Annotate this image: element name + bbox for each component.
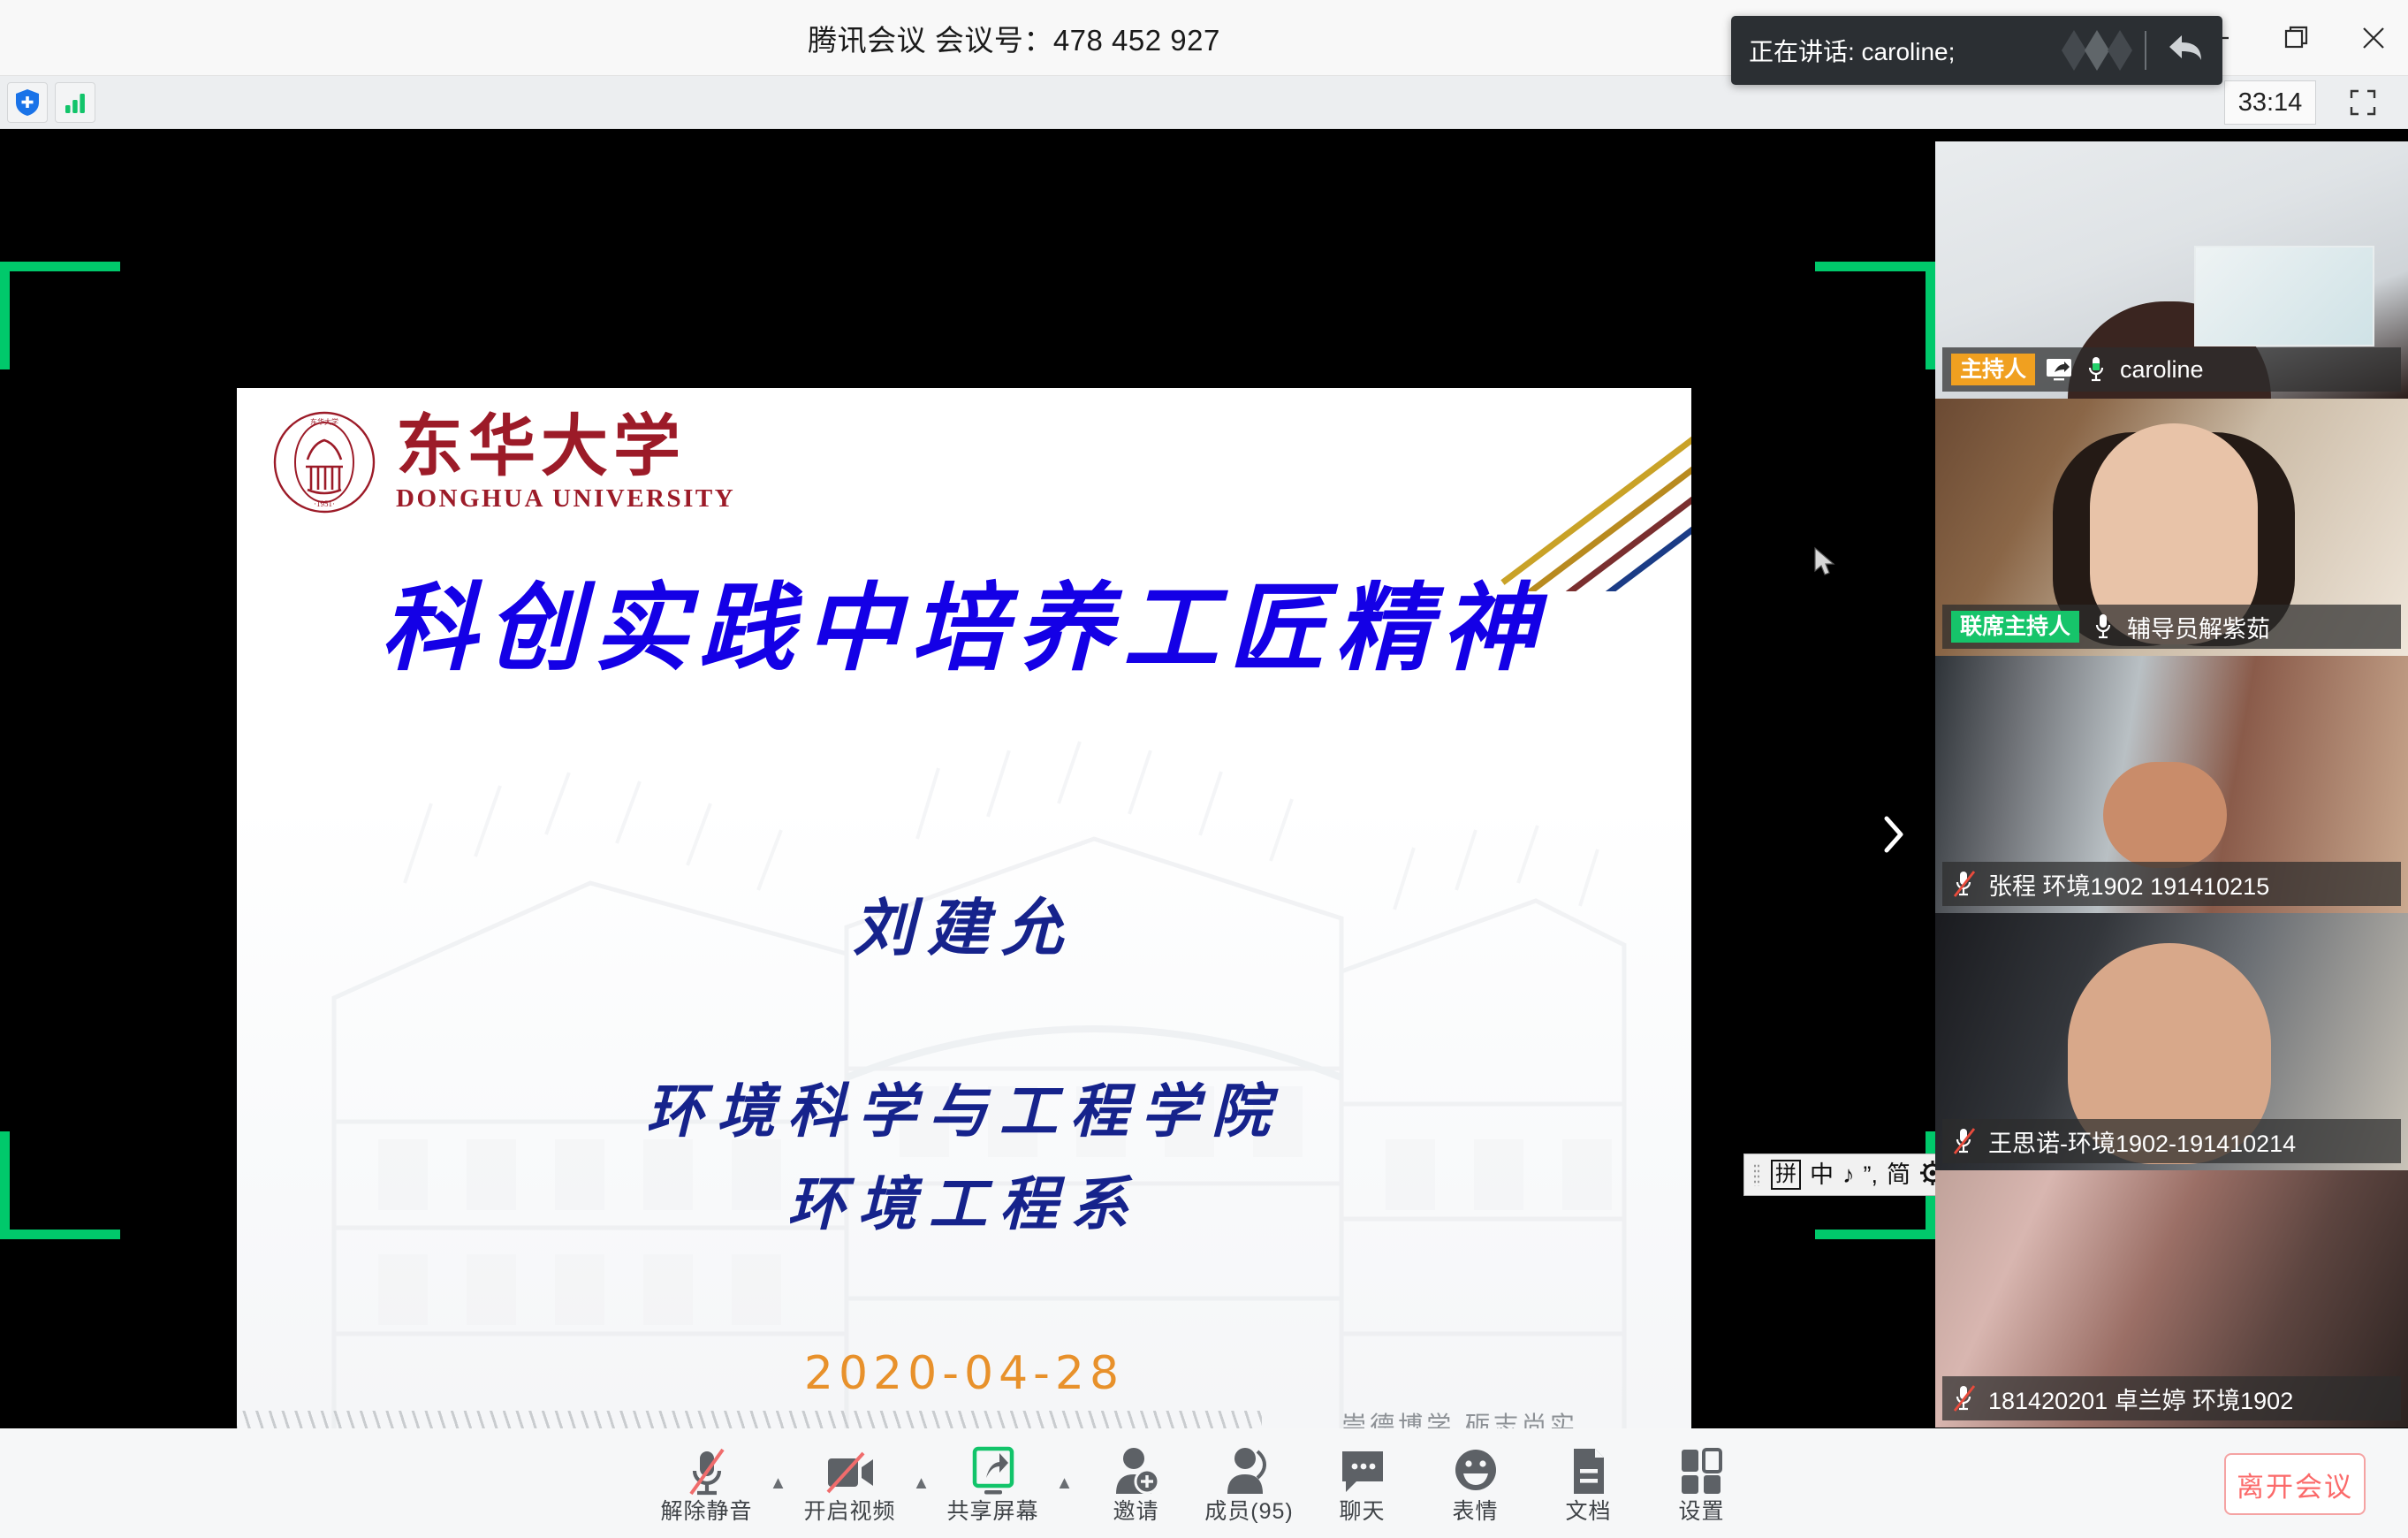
- slide-motto: 崇德博学 砺志尚实: [1341, 1406, 1578, 1428]
- ime-toolbar[interactable]: 拼 中 ♪ ”, 简 ▾: [1743, 1153, 1935, 1196]
- emoji-button[interactable]: 表情: [1419, 1432, 1532, 1534]
- chat-bubble-icon: [1339, 1444, 1386, 1497]
- share-screen-button[interactable]: 共享屏幕: [937, 1432, 1050, 1534]
- participant-name: caroline: [2120, 356, 2204, 384]
- university-name-cn: 东华大学: [396, 411, 735, 482]
- mic-muted-icon: [683, 1444, 731, 1497]
- mouse-pointer-icon: [1813, 546, 1836, 578]
- invite-button[interactable]: 邀请: [1080, 1432, 1193, 1534]
- meeting-toolbar-items: 解除静音 ▲ 开启视频 ▲: [0, 1428, 2408, 1538]
- share-marker-bottom-left: [0, 1131, 120, 1239]
- shared-screen-stage: ·1951· 东华大学 东华大学 DONGHUA UNIVERSITY 科创实践…: [0, 129, 1935, 1428]
- meeting-toolbar: 解除静音 ▲ 开启视频 ▲: [0, 1428, 2408, 1538]
- audio-options-caret-icon[interactable]: ▲: [763, 1432, 794, 1534]
- toolbar-label: 文档: [1565, 1501, 1611, 1523]
- participant-name: 181420201 卓兰婷 环境1902: [1988, 1382, 2293, 1416]
- slide-department-line1: 环境科学与工程学院: [237, 1064, 1691, 1149]
- svg-text:·1951·: ·1951·: [314, 499, 335, 508]
- screen-share-icon: [2046, 354, 2072, 384]
- security-shield-icon[interactable]: [7, 82, 48, 123]
- speaking-toast: 正在讲话: caroline;: [1731, 16, 2222, 85]
- toolbar-label: 开启视频: [803, 1501, 895, 1523]
- window-controls: [2199, 0, 2392, 76]
- participant-tile[interactable]: 张程 环境1902 191410215: [1935, 656, 2408, 913]
- user-add-icon: [1113, 1444, 1160, 1497]
- participants-button[interactable]: 成员(95): [1193, 1432, 1306, 1534]
- participants-icon: [1226, 1444, 1273, 1497]
- meeting-timer: 33:14: [2224, 80, 2316, 125]
- slide-title: 科创实践中培养工匠精神: [237, 552, 1691, 689]
- presentation-slide: ·1951· 东华大学 东华大学 DONGHUA UNIVERSITY 科创实践…: [237, 388, 1691, 1428]
- restore-icon[interactable]: [2277, 19, 2314, 57]
- screen-share-icon: [972, 1444, 1014, 1497]
- participant-tile[interactable]: 181420201 卓兰婷 环境1902: [1935, 1170, 2408, 1428]
- participant-namebar: 王思诺-环境1902-191410214: [1942, 1119, 2401, 1163]
- toolbar-label: 共享屏幕: [946, 1501, 1038, 1523]
- video-options-caret-icon[interactable]: ▲: [907, 1432, 937, 1534]
- share-options-caret-icon[interactable]: ▲: [1050, 1432, 1080, 1534]
- ime-language-toggle[interactable]: 中: [1810, 1163, 1834, 1187]
- slide-hatch-decoration: [237, 1411, 1262, 1428]
- mic-muted-icon: [1951, 1126, 1978, 1156]
- unmute-button[interactable]: 解除静音: [650, 1432, 763, 1534]
- participant-name: 王思诺-环境1902-191410214: [1988, 1124, 2296, 1159]
- participant-name: 辅导员解紫茹: [2127, 610, 2270, 644]
- slide-author: 刘建允: [237, 879, 1691, 968]
- leave-meeting-button[interactable]: 离开会议: [2224, 1453, 2366, 1515]
- signal-bars-icon[interactable]: [55, 82, 95, 123]
- participant-tile[interactable]: 王思诺-环境1902-191410214: [1935, 913, 2408, 1170]
- video-off-icon: [823, 1444, 877, 1497]
- participant-namebar: 张程 环境1902 191410215: [1942, 862, 2401, 906]
- share-marker-top-left: [0, 262, 120, 369]
- collapse-filmstrip-chevron-right-icon[interactable]: [1866, 801, 1919, 868]
- slide-date: 2020-04-28: [237, 1347, 1691, 1400]
- participant-namebar: 联席主持人 辅导员解紫茹: [1942, 605, 2401, 649]
- gear-icon[interactable]: [1919, 1160, 1935, 1191]
- mic-muted-icon: [1951, 869, 1978, 899]
- svg-text:东华大学: 东华大学: [310, 417, 338, 426]
- university-name-en: DONGHUA UNIVERSITY: [396, 484, 735, 514]
- tencent-meeting-logo-icon: [2060, 27, 2134, 74]
- cohost-badge: 联席主持人: [1951, 611, 2079, 643]
- start-video-button[interactable]: 开启视频: [794, 1432, 907, 1534]
- ime-charset-toggle[interactable]: 简: [1887, 1163, 1910, 1187]
- ime-punctuation-toggle[interactable]: ”,: [1864, 1163, 1879, 1187]
- document-icon: [1569, 1444, 1609, 1497]
- toolbar-label: 解除静音: [660, 1501, 752, 1523]
- participant-filmstrip[interactable]: 主持人 caro: [1935, 141, 2408, 1428]
- mic-icon: [2090, 612, 2116, 642]
- reply-arrow-icon[interactable]: [2166, 30, 2205, 72]
- speaking-toast-text: 正在讲话: caroline;: [1749, 33, 2060, 68]
- meeting-window: 腾讯会议 会议号：478 452 927: [0, 0, 2408, 1538]
- campus-building-watermark: [299, 662, 1642, 1428]
- toolbar-label: 设置: [1678, 1501, 1724, 1523]
- participant-tile[interactable]: 主持人 caro: [1935, 141, 2408, 399]
- fullscreen-icon[interactable]: [2336, 80, 2390, 125]
- document-button[interactable]: 文档: [1532, 1432, 1645, 1534]
- university-logo: ·1951· 东华大学 东华大学 DONGHUA UNIVERSITY: [272, 410, 735, 514]
- participant-namebar: 181420201 卓兰婷 环境1902: [1942, 1376, 2401, 1420]
- toolbar-label: 成员(95): [1204, 1501, 1293, 1523]
- participant-tile[interactable]: 联席主持人 辅导员解紫茹: [1935, 399, 2408, 656]
- slide-department-line2: 环境工程系: [237, 1157, 1691, 1242]
- mic-muted-icon: [1951, 1383, 1978, 1413]
- settings-button[interactable]: 设置: [1645, 1432, 1759, 1534]
- toolbar-label: 邀请: [1113, 1501, 1158, 1523]
- participant-namebar: 主持人 caro: [1942, 347, 2401, 392]
- emoji-icon: [1452, 1444, 1500, 1497]
- ime-mode-key[interactable]: 拼: [1771, 1160, 1801, 1190]
- toolbar-label: 聊天: [1339, 1501, 1385, 1523]
- host-badge: 主持人: [1951, 354, 2035, 386]
- mic-active-icon: [2083, 354, 2109, 384]
- close-icon[interactable]: [2355, 19, 2392, 57]
- participant-name: 张程 环境1902 191410215: [1988, 867, 2269, 902]
- ime-tone-icon[interactable]: ♪: [1842, 1163, 1855, 1187]
- ime-drag-handle[interactable]: [1753, 1163, 1760, 1186]
- share-marker-top-right: [1815, 262, 1935, 369]
- toast-divider: [2145, 31, 2146, 70]
- donghua-university-seal-icon: ·1951· 东华大学: [272, 410, 376, 514]
- toolbar-label: 表情: [1452, 1501, 1498, 1523]
- chat-button[interactable]: 聊天: [1306, 1432, 1419, 1534]
- settings-grid-icon: [1678, 1444, 1726, 1497]
